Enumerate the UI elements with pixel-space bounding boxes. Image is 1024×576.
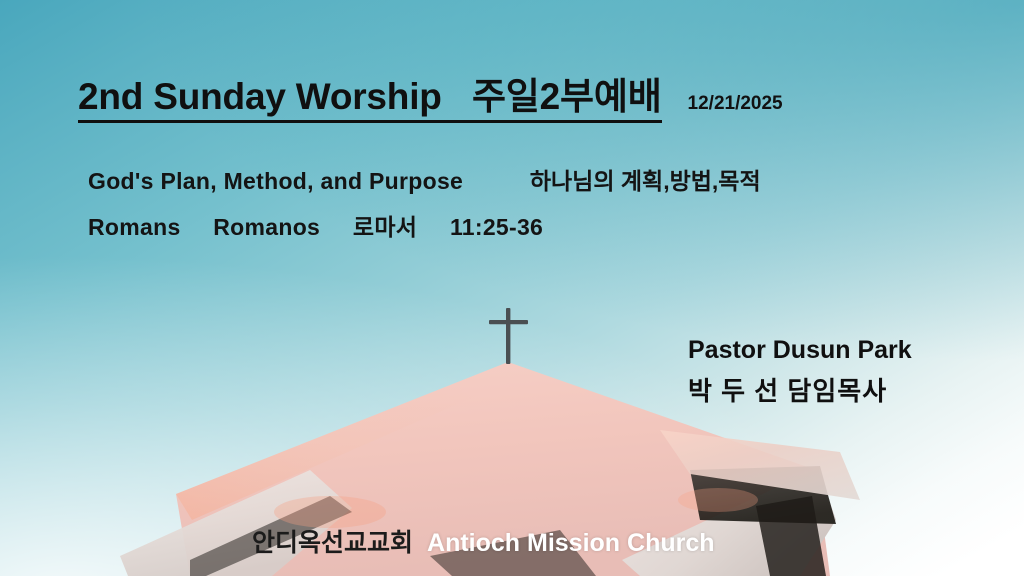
scripture-line: Romans Romanos 로마서 11:25-36 [88,208,543,242]
church-name-korean: 안디옥선교교회 [252,523,413,559]
theme-line: God's Plan, Method, and Purpose 하나님의 계획,… [88,162,761,196]
scripture-korean: 로마서 [353,214,417,240]
theme-korean: 하나님의 계획,방법,목적 [530,168,761,194]
roof-panel-upper-right [660,430,860,500]
roof-recess-right [690,466,836,524]
scripture-english: Romans [88,214,181,240]
roof-highlight-left [176,362,508,520]
shadow-band-right [756,496,826,576]
scripture-reference: 11:25-36 [450,214,543,240]
theme-english: God's Plan, Method, and Purpose [88,168,463,194]
slide-title-english: 2nd Sunday Worship [78,76,442,117]
cross-icon [489,308,528,364]
slide-title: 2nd Sunday Worship 주일2부예배 [78,78,662,123]
slide-title-korean: 주일2부예배 [472,76,662,117]
scripture-spanish: Romanos [213,214,320,240]
roof-right-wing [622,468,836,576]
pastor-name-english: Pastor Dusun Park [688,335,912,365]
pastor-name-korean: 박 두 선 담임목사 [688,376,912,407]
worship-slide: 2nd Sunday Worship 주일2부예배 12/21/2025 God… [0,0,1024,576]
pastor-block: Pastor Dusun Park 박 두 선 담임목사 [688,335,912,407]
church-name-english: Antioch Mission Church [427,529,715,558]
slide-title-row: 2nd Sunday Worship 주일2부예배 12/21/2025 [78,78,783,123]
roof-blush-right [678,488,758,512]
slide-date: 12/21/2025 [688,93,783,123]
church-name-block: 안디옥선교교회 Antioch Mission Church [252,523,715,559]
